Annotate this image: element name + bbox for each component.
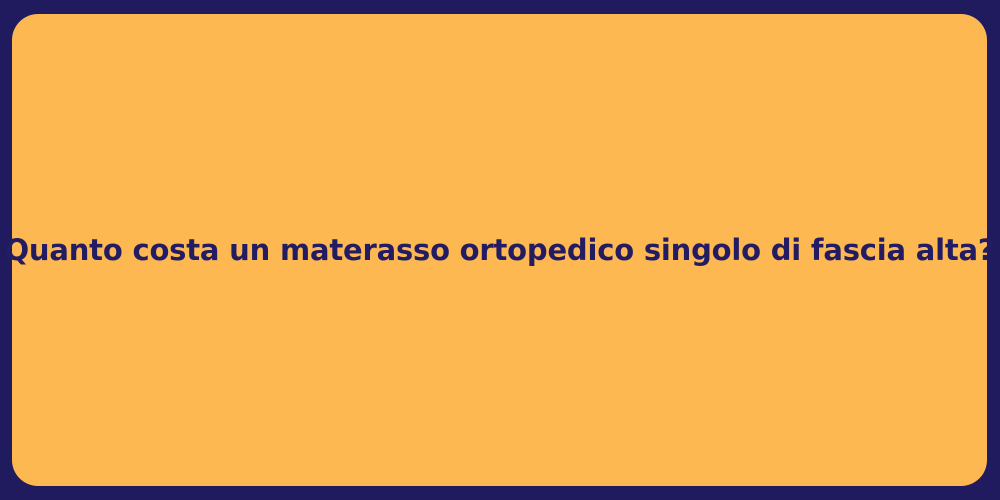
banner-card: Quanto costa un materasso ortopedico sin… — [12, 14, 987, 486]
headline-question: Quanto costa un materasso ortopedico sin… — [4, 233, 994, 268]
banner-frame: Quanto costa un materasso ortopedico sin… — [0, 0, 1000, 500]
